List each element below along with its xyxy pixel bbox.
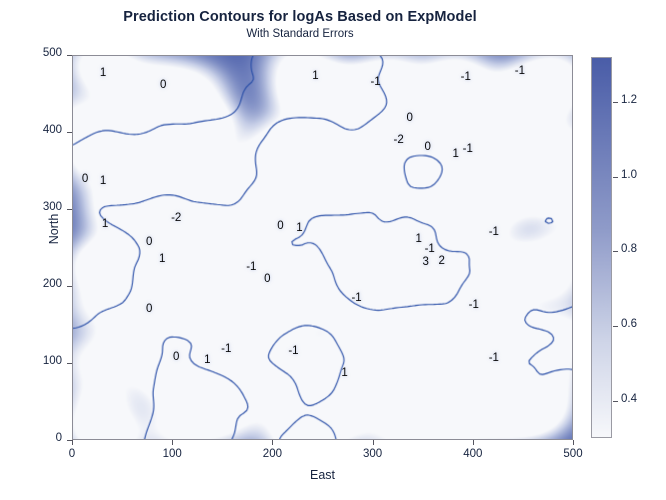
colorbar-tick-mark (613, 102, 618, 103)
y-tick-mark (67, 286, 72, 287)
contour-canvas (73, 56, 572, 439)
colorbar-tick-label: 0.6 (621, 318, 637, 330)
x-tick-mark (573, 440, 574, 445)
x-tick-mark (272, 440, 273, 445)
y-tick-mark (67, 132, 72, 133)
y-tick-label: 400 (10, 124, 62, 136)
x-tick-mark (72, 440, 73, 445)
colorbar-tick-label: 1.2 (621, 94, 637, 106)
title-block: Prediction Contours for logAs Based on E… (0, 8, 600, 42)
contour-plot-figure: Prediction Contours for logAs Based on E… (0, 0, 666, 500)
colorbar (591, 57, 612, 438)
x-tick-label: 0 (42, 448, 102, 460)
x-tick-mark (172, 440, 173, 445)
colorbar-tick-mark (613, 401, 618, 402)
colorbar-tick-label: 0.4 (621, 393, 637, 405)
y-tick-mark (67, 209, 72, 210)
x-tick-label: 100 (142, 448, 202, 460)
y-tick-mark (67, 55, 72, 56)
y-axis-title: North (47, 169, 61, 289)
y-tick-mark (67, 363, 72, 364)
chart-subtitle: With Standard Errors (0, 27, 600, 42)
x-tick-mark (473, 440, 474, 445)
y-tick-label: 500 (10, 47, 62, 59)
plot-area: 10011-201001-1-1001-111-1-1-200-11321-1-… (72, 55, 573, 440)
colorbar-tick-mark (613, 326, 618, 327)
y-tick-label: 100 (10, 355, 62, 367)
x-tick-label: 200 (242, 448, 302, 460)
x-tick-mark (373, 440, 374, 445)
colorbar-tick-label: 0.8 (621, 243, 637, 255)
x-tick-label: 400 (443, 448, 503, 460)
y-tick-label: 0 (10, 432, 62, 444)
colorbar-tick-label: 1.0 (621, 169, 637, 181)
page-title: Prediction Contours for logAs Based on E… (0, 8, 600, 26)
x-axis-title: East (72, 468, 573, 482)
x-tick-label: 500 (543, 448, 603, 460)
colorbar-tick-mark (613, 251, 618, 252)
colorbar-gradient (592, 58, 611, 437)
x-tick-label: 300 (343, 448, 403, 460)
colorbar-tick-mark (613, 177, 618, 178)
